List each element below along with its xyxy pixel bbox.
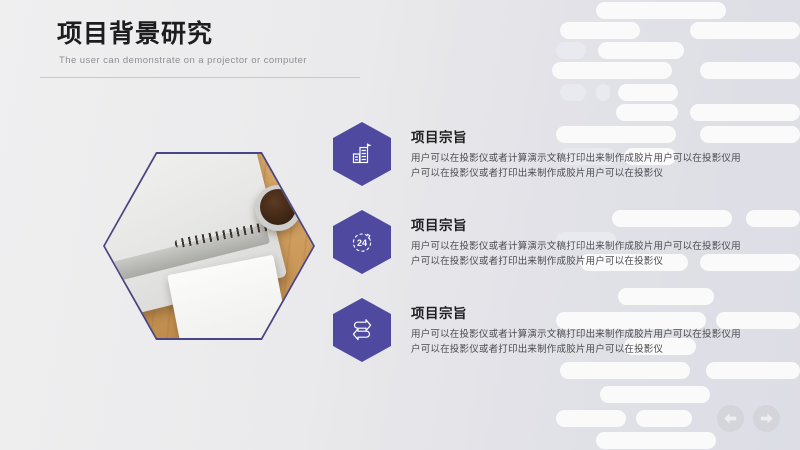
clock-24-icon: 24: [333, 210, 391, 274]
header-divider: [40, 77, 360, 78]
feature-body: 用户可以在投影仪或者计算演示文稿打印出来制作成胶片用户可以在投影仪用户可以在投影…: [411, 239, 741, 270]
page-subtitle: The user can demonstrate on a projector …: [59, 55, 377, 66]
page-title: 项目背景研究: [57, 20, 377, 49]
building-icon: [333, 122, 391, 186]
slide-canvas: 项目背景研究 The user can demonstrate on a pro…: [0, 0, 800, 450]
svg-text:24: 24: [357, 238, 367, 248]
slide-navigation: [717, 405, 780, 432]
feature-title: 项目宗旨: [411, 126, 741, 146]
hexagon-photo-image: [105, 154, 313, 338]
slide-header: 项目背景研究 The user can demonstrate on a pro…: [57, 20, 377, 66]
exchange-arrows-icon: [333, 298, 391, 362]
feature-text-block: 项目宗旨 用户可以在投影仪或者计算演示文稿打印出来制作成胶片用户可以在投影仪用户…: [411, 210, 741, 270]
feature-item: 项目宗旨 用户可以在投影仪或者计算演示文稿打印出来制作成胶片用户可以在投影仪用户…: [333, 298, 753, 362]
feature-body: 用户可以在投影仪或者计算演示文稿打印出来制作成胶片用户可以在投影仪用户可以在投影…: [411, 151, 741, 182]
feature-body: 用户可以在投影仪或者计算演示文稿打印出来制作成胶片用户可以在投影仪用户可以在投影…: [411, 327, 741, 358]
feature-item: 24 项目宗旨 用户可以在投影仪或者计算演示文稿打印出来制作成胶片用户可以在投影…: [333, 210, 753, 274]
previous-slide-button[interactable]: [717, 405, 744, 432]
feature-text-block: 项目宗旨 用户可以在投影仪或者计算演示文稿打印出来制作成胶片用户可以在投影仪用户…: [411, 122, 741, 182]
feature-list: 项目宗旨 用户可以在投影仪或者计算演示文稿打印出来制作成胶片用户可以在投影仪用户…: [333, 122, 753, 386]
feature-text-block: 项目宗旨 用户可以在投影仪或者计算演示文稿打印出来制作成胶片用户可以在投影仪用户…: [411, 298, 741, 358]
feature-title: 项目宗旨: [411, 214, 741, 234]
feature-item: 项目宗旨 用户可以在投影仪或者计算演示文稿打印出来制作成胶片用户可以在投影仪用户…: [333, 122, 753, 186]
next-slide-button[interactable]: [753, 405, 780, 432]
feature-title: 项目宗旨: [411, 302, 741, 322]
hexagon-photo: [103, 152, 315, 340]
